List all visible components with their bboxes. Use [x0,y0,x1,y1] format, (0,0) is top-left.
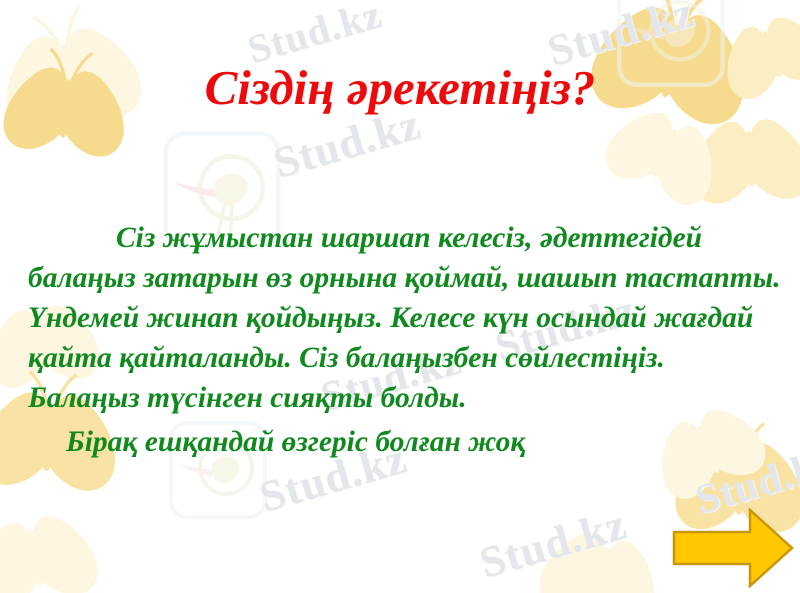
slide-content: Сіздің әрекетіңіз? Сіз жұмыстан шаршап к… [0,0,800,593]
body-paragraph-2: Бірақ ешқандай өзгеріс болған жоқ [28,422,784,462]
next-slide-arrow-button[interactable] [672,508,794,588]
slide-body: Сіз жұмыстан шаршап келесіз, әдеттегідей… [28,218,784,462]
page-title: Сіздің әрекетіңіз? [0,62,800,113]
arrow-right-icon[interactable] [672,508,794,588]
presentation-slide: Stud.kz Stud.kz Stud.kz Stud.kz - Stud.k… [0,0,800,593]
body-paragraph-1: Сіз жұмыстан шаршап келесіз, әдеттегідей… [28,218,784,418]
